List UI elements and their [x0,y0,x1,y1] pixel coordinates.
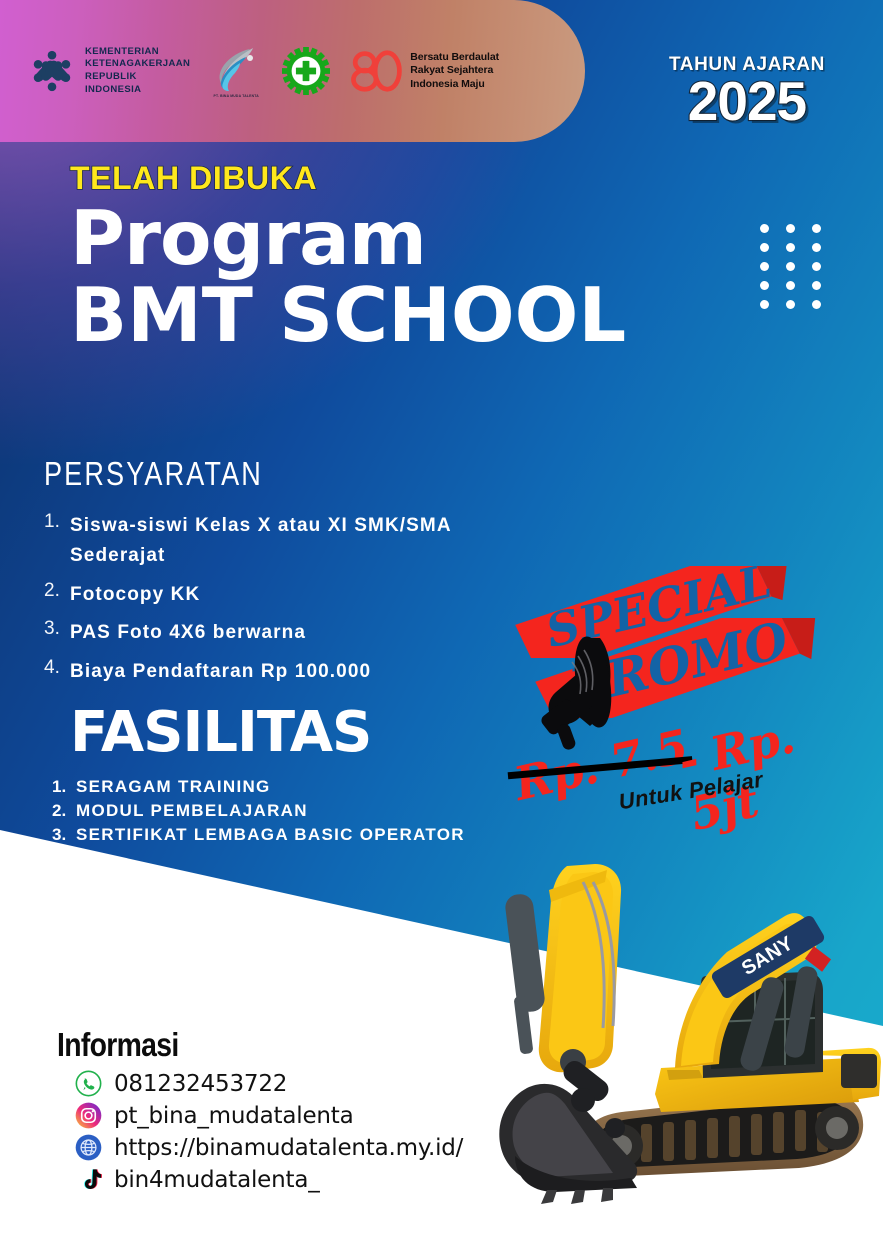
kemnaker-line2: KETENAGAKERJAAN [85,58,190,71]
item-number: 2. [52,799,71,823]
whatsapp-icon [75,1070,102,1097]
kemnaker-emblem-icon [28,47,76,95]
list-item: 3. PAS Foto 4X6 berwarna [44,618,514,648]
information-heading: Informasi [57,1026,427,1064]
kemnaker-line1: KEMENTERIAN [85,46,190,59]
contact-text: pt_bina_mudatalenta [114,1103,354,1129]
kemnaker-line4: INDONESIA [85,84,190,97]
facilities-heading: FASILITAS [70,705,490,761]
hut-80-ri-logo: Bersatu Berdaulat Rakyat Sejahtera Indon… [350,49,499,93]
special-promo-block: SPECIAL PROMO [500,548,880,828]
poster-root: KEMENTERIAN KETENAGAKERJAAN REPUBLIK IND… [0,0,883,1250]
list-item[interactable]: https://binamudatalenta.my.id/ [75,1134,487,1161]
requirements-heading: PERSYARATAN [44,455,429,493]
list-item: 4. Biaya Pendaftaran Rp 100.000 [44,657,514,687]
item-number: 3. [44,618,64,648]
promo-price-new: - Rp. 5jt [673,695,875,841]
list-item[interactable]: pt_bina_mudatalenta [75,1102,487,1129]
contact-text: bin4mudatalenta_ [114,1167,320,1193]
swoosh-icon [210,43,262,93]
kemnaker-logo-text: KEMENTERIAN KETENAGAKERJAAN REPUBLIK IND… [85,46,190,96]
facilities-list: 1. SERAGAM TRAINING 2. MODUL PEMBELAJARA… [52,775,490,847]
instagram-icon [75,1102,102,1129]
kemnaker-line3: REPUBLIK [85,71,190,84]
item-text: Siswa-siswi Kelas X atau XI SMK/SMA Sede… [70,511,514,572]
dot-grid-decoration [760,224,825,309]
list-item: 2. MODUL PEMBELAJARAN [52,799,490,823]
year-value: 2025 [669,75,825,128]
school-year-block: TAHUN AJARAN 2025 [669,54,825,128]
k3-gear-logo [282,47,330,95]
item-text: Biaya Pendaftaran Rp 100.000 [70,657,371,687]
list-item: 1. Siswa-siswi Kelas X atau XI SMK/SMA S… [44,511,514,572]
list-item: 1. SERAGAM TRAINING [52,775,490,799]
contact-list: 081232453722 [75,1070,487,1193]
item-text: PAS Foto 4X6 berwarna [70,618,306,648]
pt-logo-caption: PT. BINA MUDA TALENTA [210,94,262,98]
information-section: Informasi 081232453722 [57,1026,487,1193]
header-logo-row: KEMENTERIAN KETENAGAKERJAAN REPUBLIK IND… [0,0,585,142]
eighty-icon [350,49,402,93]
pt-bina-muda-talenta-logo: PT. BINA MUDA TALENTA [210,43,262,99]
facilities-section: FASILITAS 1. SERAGAM TRAINING 2. MODUL P… [70,705,490,847]
item-number: 1. [44,511,64,572]
item-number: 2. [44,580,64,610]
page-title: Program BMT SCHOOL [70,203,626,352]
item-text: SERAGAM TRAINING [76,775,271,799]
excavator-arm [504,864,621,1075]
hut-80-text: Bersatu Berdaulat Rakyat Sejahtera Indon… [410,51,499,91]
item-text: SERTIFIKAT LEMBAGA BASIC OPERATOR [76,823,465,847]
list-item[interactable]: 081232453722 [75,1070,487,1097]
requirements-section: PERSYARATAN 1. Siswa-siswi Kelas X atau … [44,455,514,695]
excavator-image: SANY [455,856,883,1250]
hut80-line2: Rakyat Sejahtera [410,64,499,77]
kemnaker-logo: KEMENTERIAN KETENAGAKERJAAN REPUBLIK IND… [28,46,190,96]
hut80-line1: Bersatu Berdaulat [410,51,499,64]
item-text: Fotocopy KK [70,580,200,610]
kicker-telah-dibuka: TELAH DIBUKA [70,160,317,197]
item-number: 4. [44,657,64,687]
excavator-bucket [499,1057,637,1204]
title-line-2: BMT SCHOOL [70,280,626,351]
title-line-1: Program [70,203,626,274]
contact-text: 081232453722 [114,1071,287,1097]
requirements-list: 1. Siswa-siswi Kelas X atau XI SMK/SMA S… [44,511,514,687]
item-text: MODUL PEMBELAJARAN [76,799,308,823]
list-item: 3. SERTIFIKAT LEMBAGA BASIC OPERATOR [52,823,490,847]
hut80-line3: Indonesia Maju [410,78,499,91]
list-item: 2. Fotocopy KK [44,580,514,610]
list-item[interactable]: bin4mudatalenta_ [75,1166,487,1193]
item-number: 1. [52,775,71,799]
tiktok-icon [75,1166,102,1193]
gear-cross-icon [282,47,330,95]
contact-text: https://binamudatalenta.my.id/ [114,1135,463,1161]
globe-icon [75,1134,102,1161]
